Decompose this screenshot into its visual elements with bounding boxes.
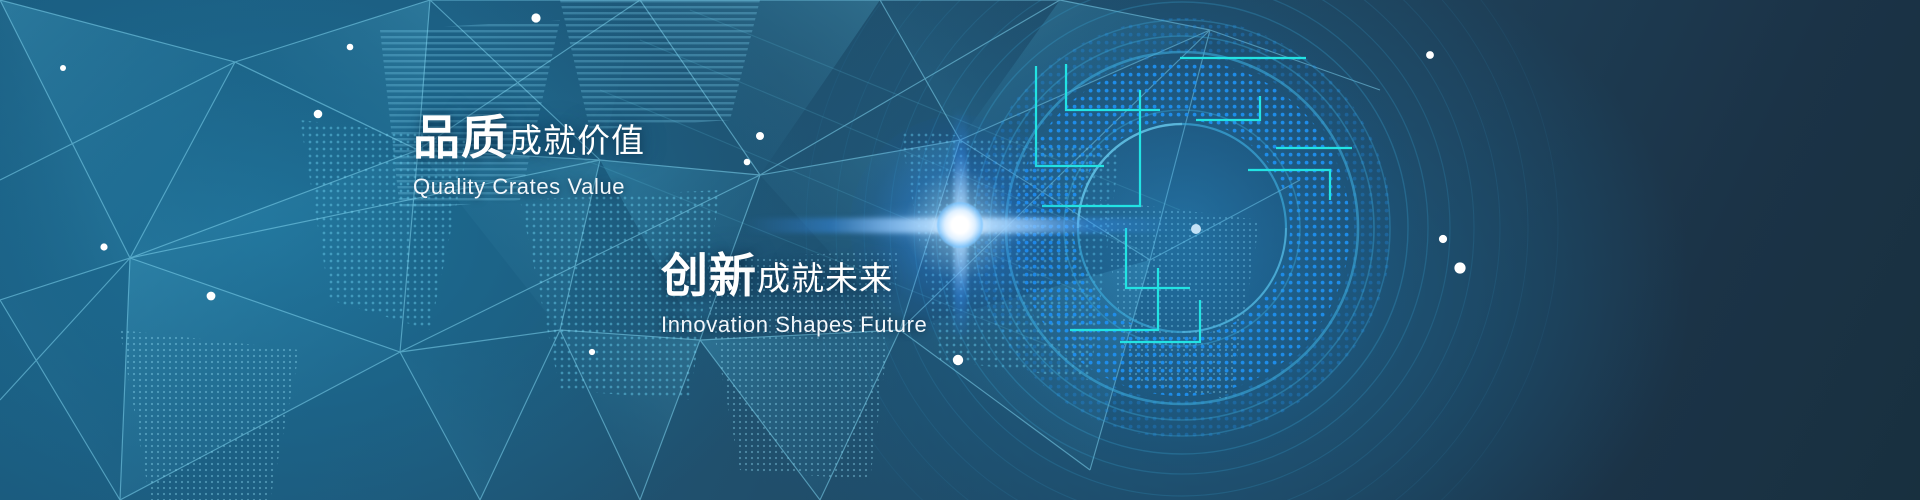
slogan-quality: 品质成就价值 Quality Crates Value — [413, 114, 645, 200]
slogan-innovation-subtitle: Innovation Shapes Future — [661, 312, 927, 338]
right-ring-graphic — [0, 0, 1920, 500]
hero-banner: 品质成就价值 Quality Crates Value 创新成就未来 Innov… — [0, 0, 1920, 500]
slogan-innovation: 创新成就未来 Innovation Shapes Future — [661, 252, 927, 338]
slogan-quality-headline-rest: 成就价值 — [509, 122, 645, 159]
slogan-quality-headline-emphasis: 品质 — [413, 111, 509, 164]
slogan-innovation-headline-emphasis: 创新 — [661, 249, 757, 302]
slogan-innovation-headline: 创新成就未来 — [661, 252, 927, 299]
slogan-innovation-headline-rest: 成就未来 — [757, 260, 893, 297]
slogan-quality-subtitle: Quality Crates Value — [413, 174, 645, 200]
slogan-quality-headline: 品质成就价值 — [413, 114, 645, 161]
